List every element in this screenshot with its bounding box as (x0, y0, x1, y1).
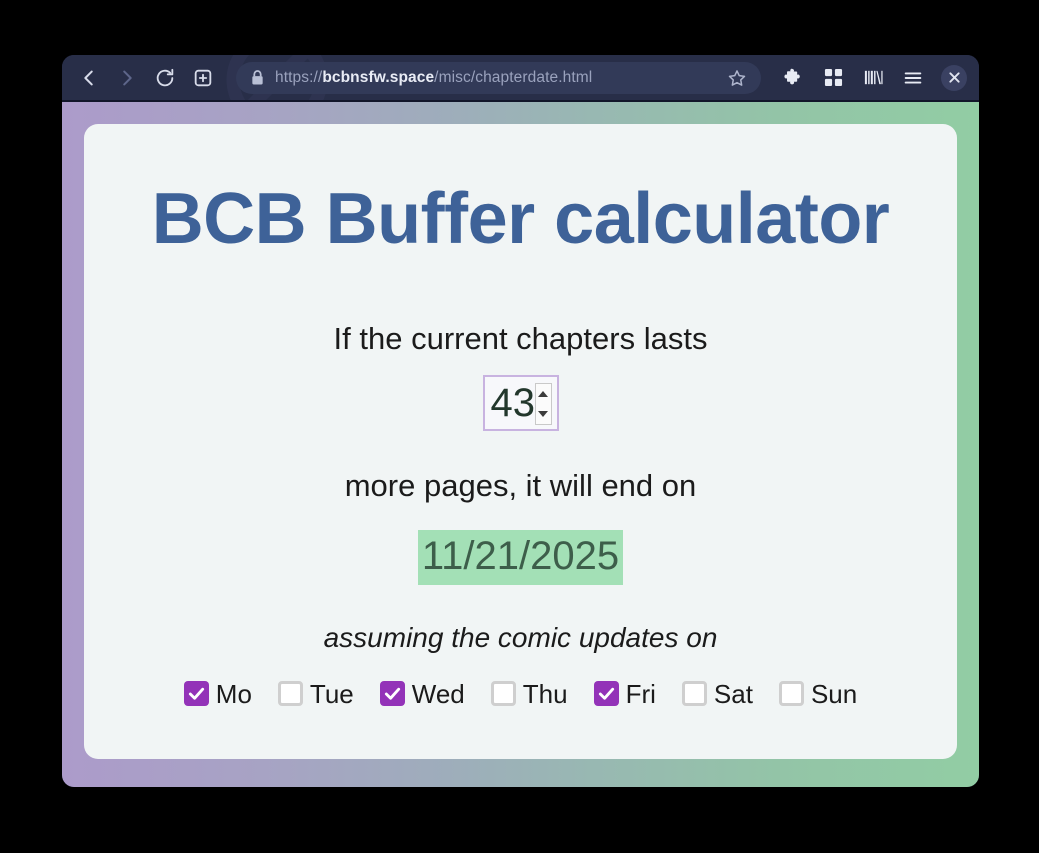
screen: https://bcbnsfw.space/misc/chapterdate.h… (0, 0, 1039, 853)
url-scheme: https:// (275, 69, 322, 86)
weekday-label-sun: Sun (811, 681, 857, 707)
grid-apps-icon (824, 68, 843, 87)
weekday-item-wed[interactable]: Wed (380, 681, 465, 707)
close-icon (948, 71, 961, 84)
pages-input-wrapper: 43 (114, 375, 927, 431)
checkbox-mo[interactable] (184, 681, 209, 706)
checkbox-sun[interactable] (779, 681, 804, 706)
weekday-item-thu[interactable]: Thu (491, 681, 568, 707)
library-icon (863, 67, 884, 88)
spinner-down-icon[interactable] (538, 411, 548, 417)
checkbox-thu[interactable] (491, 681, 516, 706)
weekday-label-wed: Wed (412, 681, 465, 707)
menu-button[interactable] (895, 60, 931, 96)
lock-icon (250, 69, 265, 86)
weekday-item-fri[interactable]: Fri (594, 681, 656, 707)
weekday-item-tue[interactable]: Tue (278, 681, 354, 707)
toolbar-actions (775, 60, 969, 96)
weekday-item-mo[interactable]: Mo (184, 681, 252, 707)
reload-button[interactable] (146, 59, 184, 97)
address-bar[interactable]: https://bcbnsfw.space/misc/chapterdate.h… (236, 62, 761, 94)
plus-box-icon (192, 67, 214, 89)
weekday-label-tue: Tue (310, 681, 354, 707)
assumption-text: assuming the comic updates on (114, 621, 927, 655)
pages-input-value: 43 (491, 383, 536, 423)
url-path: /misc/chapterdate.html (434, 69, 592, 86)
browser-window: https://bcbnsfw.space/misc/chapterdate.h… (62, 55, 979, 787)
check-icon (597, 684, 616, 703)
back-button[interactable] (70, 59, 108, 97)
weekday-label-fri: Fri (626, 681, 656, 707)
spinner-up-icon[interactable] (538, 391, 548, 397)
pages-input-spinner[interactable] (535, 383, 552, 425)
check-icon (187, 684, 206, 703)
checkbox-wed[interactable] (380, 681, 405, 706)
weekday-item-sun[interactable]: Sun (779, 681, 857, 707)
intro-text: If the current chapters lasts (114, 320, 927, 357)
page-title: BCB Buffer calculator (114, 182, 927, 258)
new-tab-button[interactable] (184, 59, 222, 97)
page-viewport: BCB Buffer calculator If the current cha… (62, 102, 979, 787)
checkbox-fri[interactable] (594, 681, 619, 706)
result-date: 11/21/2025 (418, 530, 623, 585)
url-text: https://bcbnsfw.space/misc/chapterdate.h… (275, 69, 723, 87)
star-icon (727, 68, 747, 88)
weekday-checkbox-group: Mo Tue Wed Thu (114, 681, 927, 707)
hamburger-menu-icon (902, 67, 924, 89)
puzzle-piece-icon (783, 67, 804, 88)
chevron-right-icon (116, 67, 138, 89)
forward-button[interactable] (108, 59, 146, 97)
apps-button[interactable] (815, 60, 851, 96)
result-wrapper: 11/21/2025 (114, 530, 927, 585)
weekday-label-mo: Mo (216, 681, 252, 707)
extensions-button[interactable] (775, 60, 811, 96)
weekday-label-thu: Thu (523, 681, 568, 707)
url-host: bcbnsfw.space (322, 69, 434, 86)
calculator-card: BCB Buffer calculator If the current cha… (84, 124, 957, 759)
reload-icon (154, 67, 176, 89)
bookmark-button[interactable] (723, 68, 751, 88)
pages-input[interactable]: 43 (483, 375, 559, 431)
weekday-item-sat[interactable]: Sat (682, 681, 753, 707)
chevron-left-icon (78, 67, 100, 89)
browser-toolbar: https://bcbnsfw.space/misc/chapterdate.h… (62, 55, 979, 102)
weekday-label-sat: Sat (714, 681, 753, 707)
check-icon (383, 684, 402, 703)
checkbox-sat[interactable] (682, 681, 707, 706)
library-button[interactable] (855, 60, 891, 96)
close-window-button[interactable] (941, 65, 967, 91)
middle-text: more pages, it will end on (114, 467, 927, 504)
checkbox-tue[interactable] (278, 681, 303, 706)
